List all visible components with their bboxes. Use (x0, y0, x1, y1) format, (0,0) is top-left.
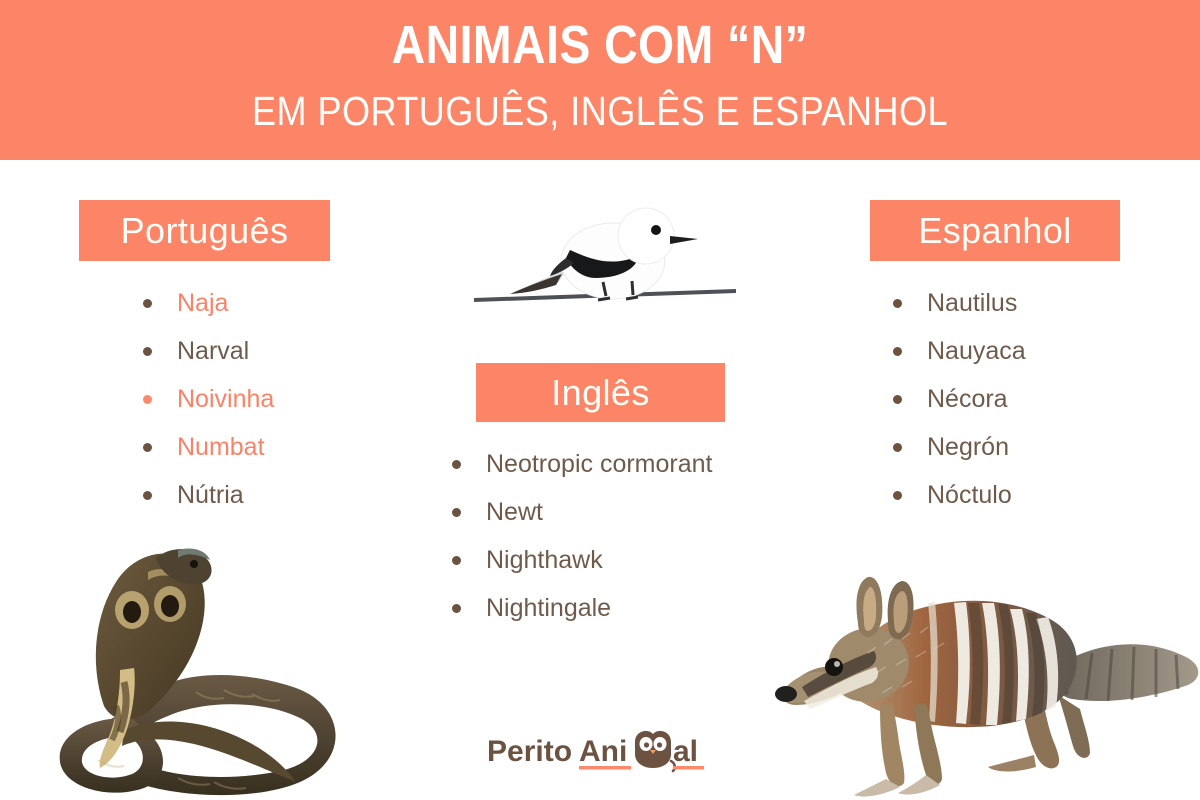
animal-name: Neotropic cormorant (486, 449, 712, 479)
animal-name: Nécora (927, 384, 1008, 414)
header-banner: ANIMAIS COM “N” EM PORTUGUÊS, INGLÊS E E… (0, 0, 1200, 160)
list-item[interactable]: Nauyaca (893, 336, 1026, 384)
animal-name[interactable]: Noivinha (177, 384, 274, 414)
owl-mascot-icon (635, 731, 675, 771)
list-item[interactable]: Nécora (893, 384, 1026, 432)
brand-logo[interactable]: Perito Ani al (487, 728, 707, 776)
list-bullet-icon (452, 604, 461, 613)
bird-photo (470, 178, 740, 328)
list-item[interactable]: Nightingale (452, 593, 712, 641)
language-label-portugues: Português (79, 200, 330, 261)
peritoanimal-logo-icon: Perito Ani al (487, 728, 707, 776)
numbat-icon (758, 545, 1200, 800)
animal-name: Nighthawk (486, 545, 603, 575)
list-item[interactable]: Nautilus (893, 288, 1026, 336)
infographic-canvas: ANIMAIS COM “N” EM PORTUGUÊS, INGLÊS E E… (0, 0, 1200, 800)
animal-name: Nautilus (927, 288, 1017, 318)
cobra-photo (28, 520, 358, 800)
list-bullet-icon (452, 556, 461, 565)
animal-name: Nútria (177, 480, 244, 510)
list-item[interactable]: Naja (143, 288, 274, 336)
list-item[interactable]: Numbat (143, 432, 274, 480)
list-item[interactable]: Nighthawk (452, 545, 712, 593)
logo-underline-right (673, 766, 704, 770)
animal-list-espanhol: NautilusNauyacaNécoraNegrónNóctulo (893, 288, 1026, 528)
white-bird-on-wire-icon (470, 178, 740, 328)
language-label-text: Inglês (551, 373, 649, 413)
animal-name: Nauyaca (927, 336, 1026, 366)
list-item[interactable]: Nóctulo (893, 480, 1026, 528)
list-bullet-icon (893, 299, 902, 308)
list-bullet-icon (893, 491, 902, 500)
list-bullet-icon (893, 347, 902, 356)
animal-name: Nóctulo (927, 480, 1012, 510)
page-subtitle: EM PORTUGUÊS, INGLÊS E ESPANHOL (72, 88, 1128, 134)
animal-list-portugues: NajaNarvalNoivinhaNumbatNútria (143, 288, 274, 528)
logo-text-al: al (673, 735, 698, 768)
list-bullet-icon (143, 395, 152, 404)
logo-text-perito: Perito (487, 735, 572, 768)
list-item[interactable]: Noivinha (143, 384, 274, 432)
list-item[interactable]: Newt (452, 497, 712, 545)
cobra-snake-icon (28, 520, 358, 800)
list-item[interactable]: Negrón (893, 432, 1026, 480)
list-bullet-icon (143, 443, 152, 452)
list-bullet-icon (452, 508, 461, 517)
animal-name: Nightingale (486, 593, 611, 623)
list-bullet-icon (143, 299, 152, 308)
language-label-text: Português (121, 211, 289, 251)
animal-name[interactable]: Numbat (177, 432, 265, 462)
list-item[interactable]: Neotropic cormorant (452, 449, 712, 497)
language-label-espanhol: Espanhol (870, 200, 1120, 261)
list-item[interactable]: Narval (143, 336, 274, 384)
list-bullet-icon (893, 443, 902, 452)
numbat-photo (758, 545, 1200, 800)
list-bullet-icon (143, 347, 152, 356)
animal-list-ingles: Neotropic cormorantNewtNighthawkNighting… (452, 449, 712, 641)
list-bullet-icon (143, 491, 152, 500)
language-label-ingles: Inglês (476, 363, 725, 422)
language-label-text: Espanhol (918, 211, 1071, 251)
logo-underline-left (579, 766, 631, 770)
logo-text-ani: Ani (579, 735, 627, 768)
animal-name: Negrón (927, 432, 1009, 462)
list-bullet-icon (893, 395, 902, 404)
page-title: ANIMAIS COM “N” (84, 16, 1116, 74)
list-bullet-icon (452, 460, 461, 469)
animal-name: Narval (177, 336, 249, 366)
animal-name: Newt (486, 497, 543, 527)
animal-name[interactable]: Naja (177, 288, 228, 318)
